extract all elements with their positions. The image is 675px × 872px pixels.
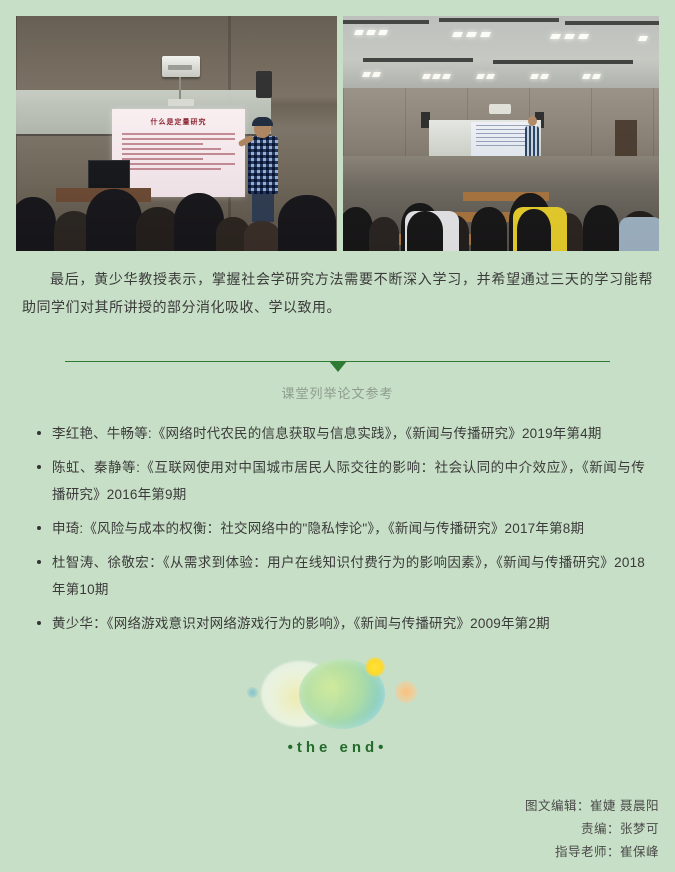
instructor-body [525, 126, 539, 160]
credit-advisor: 指导老师：崔保峰 [525, 841, 659, 864]
ceiling [343, 16, 659, 88]
photo-gallery: 什么是定量研究 [0, 0, 675, 251]
slide-body-lines [122, 133, 235, 173]
slide-title: 什么是定量研究 [112, 117, 245, 127]
list-item: 陈虹、秦静等:《互联网使用对中国城市居民人际交往的影响：社会认同的中介效应》，《… [52, 454, 645, 508]
yellow-star-icon [365, 657, 385, 677]
projector-base [168, 99, 194, 106]
list-item: 黄少华：《网络游戏意识对网络游戏行为的影响》，《新闻与传播研究》2009年第2期 [52, 610, 645, 637]
projector-mount [179, 77, 181, 99]
triangle-down-icon [329, 361, 347, 372]
orange-dot-icon [395, 681, 417, 703]
photo-classroom-wide [343, 16, 659, 251]
instructor-cap [252, 117, 273, 126]
list-item: 杜智涛、徐敬宏：《从需求到体验：用户在线知识付费行为的影响因素》，《新闻与传播研… [52, 549, 645, 603]
credit-editor: 图文编辑：崔婕 聂晨阳 [525, 795, 659, 818]
reference-list: 李红艳、牛畅等:《网络时代农民的信息获取与信息实践》，《新闻与传播研究》2019… [30, 420, 645, 637]
end-block: •the end• [0, 657, 675, 756]
body-paragraph: 最后，黄少华教授表示，掌握社会学研究方法需要不断深入学习，并希望通过三天的学习能… [22, 265, 653, 321]
footer-credits: 图文编辑：崔婕 聂晨阳 责编：张梦可 指导老师：崔保峰 [525, 795, 659, 864]
section-title: 课堂列举论文参考 [0, 383, 675, 402]
bubble-graphic [243, 657, 433, 729]
photo-lecture-instructor: 什么是定量研究 [16, 16, 337, 251]
list-item: 李红艳、牛畅等:《网络时代农民的信息获取与信息实践》，《新闻与传播研究》2019… [52, 420, 645, 447]
end-label: •the end• [0, 739, 675, 756]
wall-speaker [256, 71, 272, 98]
section-divider [0, 351, 675, 373]
ceiling-projector-icon [162, 56, 200, 77]
ceiling-projector-icon [489, 104, 511, 114]
blue-dot-icon [247, 687, 258, 698]
student-audience [16, 183, 337, 251]
credit-chief-editor: 责编：张梦可 [525, 818, 659, 841]
instructor-head [528, 116, 537, 126]
list-item: 申琦:《风险与成本的权衡：社交网络中的"隐私悖论"》，《新闻与传播研究》2017… [52, 515, 645, 542]
